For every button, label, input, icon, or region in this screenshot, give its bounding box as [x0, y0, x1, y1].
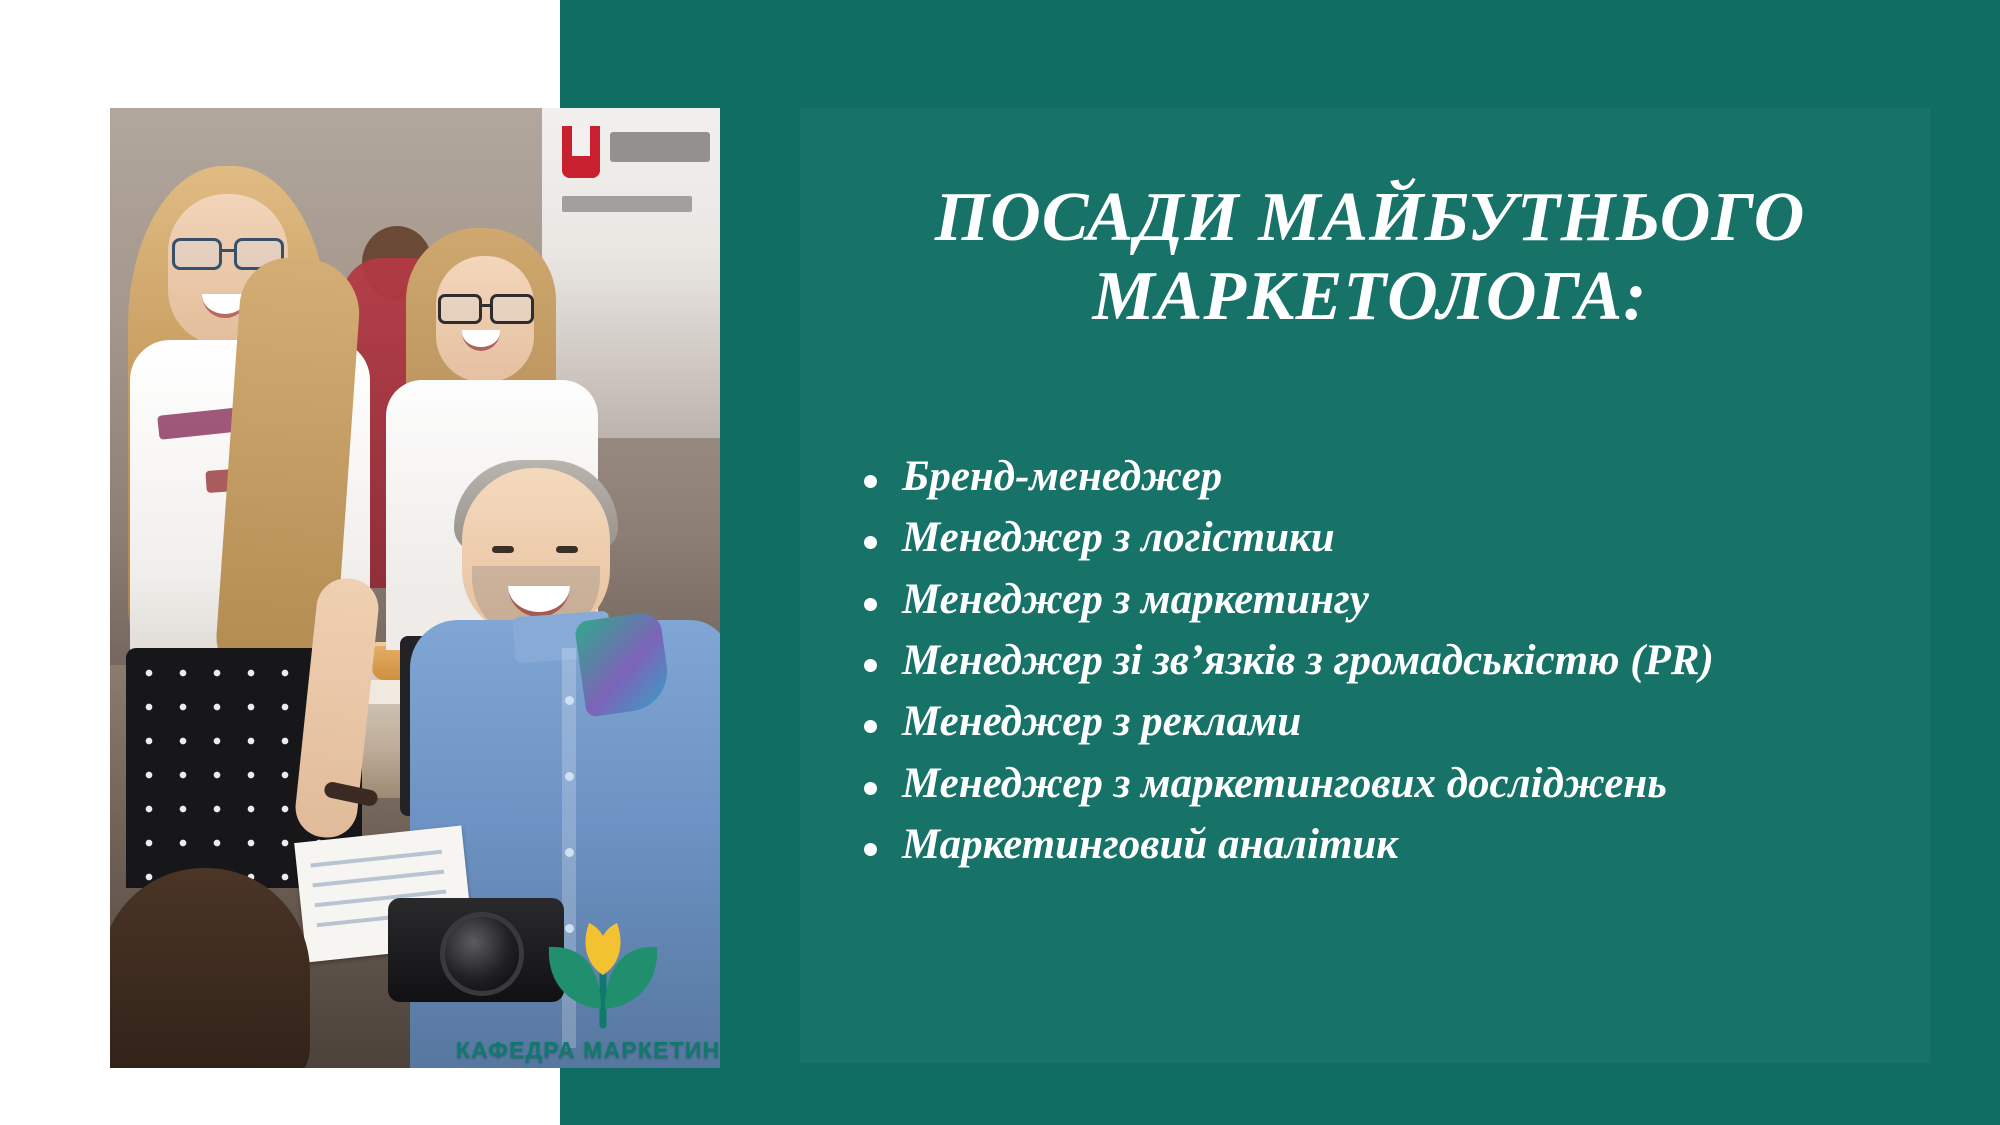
- banner-title-block: [610, 132, 710, 162]
- list-item: Менеджер зі зв’язків з громадськістю (PR…: [856, 634, 1916, 687]
- foreground-person-head: [110, 868, 310, 1068]
- conference-photo: КАФЕДРА МАРКЕТИНГУ: [110, 108, 720, 1068]
- page-title: ПОСАДИ МАЙБУТНЬОГО МАРКЕТОЛОГА:: [800, 178, 1940, 336]
- person-three-eye: [556, 546, 578, 553]
- title-line-1: ПОСАДИ МАЙБУТНЬОГО: [935, 179, 1806, 256]
- person-three-eye: [492, 546, 514, 553]
- banner-subtitle-block: [562, 196, 692, 212]
- shirt-button: [565, 696, 574, 705]
- list-item: Менеджер з логістики: [856, 511, 1916, 564]
- leaf-icon: [537, 913, 669, 1031]
- photo-scene: КАФЕДРА МАРКЕТИНГУ: [110, 108, 720, 1068]
- slide: КАФЕДРА МАРКЕТИНГУ ПОСАДИ МАЙБУТНЬОГО МА…: [0, 0, 2000, 1125]
- shirt-button: [565, 848, 574, 857]
- shirt-button: [565, 772, 574, 781]
- department-logo-text: КАФЕДРА МАРКЕТИНГУ: [456, 1037, 720, 1064]
- job-positions-list: Бренд-менеджер Менеджер з логістики Мене…: [856, 450, 1916, 879]
- list-item: Маркетинговий аналітик: [856, 818, 1916, 871]
- list-item: Бренд-менеджер: [856, 450, 1916, 503]
- list-item: Менеджер з маркетингу: [856, 573, 1916, 626]
- banner-logo-icon: [562, 126, 600, 178]
- list-item: Менеджер з маркетингових досліджень: [856, 757, 1916, 810]
- person-one-glasses-icon: [172, 238, 284, 264]
- list-item: Менеджер з реклами: [856, 695, 1916, 748]
- department-logo: КАФЕДРА МАРКЕТИНГУ: [465, 878, 720, 1064]
- title-line-2: МАРКЕТОЛОГА:: [800, 257, 1940, 336]
- person-two-glasses-icon: [438, 294, 534, 318]
